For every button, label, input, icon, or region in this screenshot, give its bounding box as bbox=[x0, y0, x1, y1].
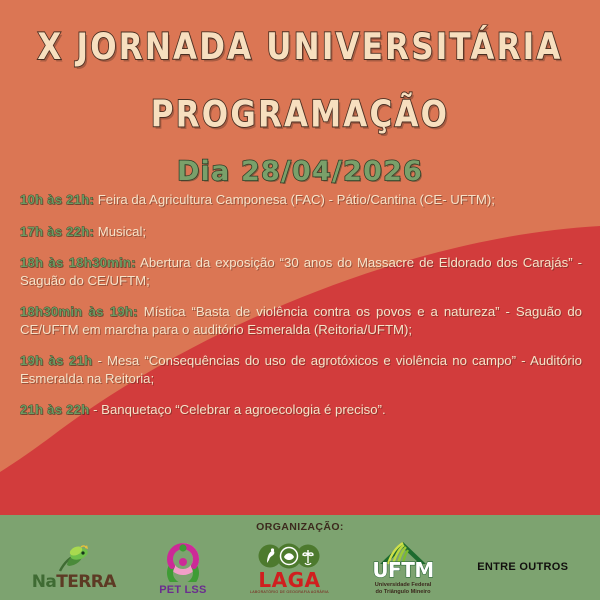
poster-footer: ORGANIZAÇÃO: NaTERRA bbox=[0, 515, 600, 600]
logo-pet-lss: PET LSS bbox=[159, 540, 206, 596]
logo-laga: LAGA LABORATÓRIO DE GEOGRAFIA AGRÁRIA bbox=[250, 541, 329, 595]
uftm-sublabel-line2: do Triângulo Mineiro bbox=[375, 589, 432, 596]
naterra-suffix: TERRA bbox=[56, 572, 116, 592]
schedule-time: 18h às 18h30min: bbox=[20, 255, 136, 270]
uftm-sublabel-line1: Universidade Federal bbox=[375, 582, 432, 589]
poster-header: X JORNADA UNIVERSITÁRIA PROGRAMAÇÃO Dia … bbox=[0, 0, 600, 187]
trefoil-knot-icon bbox=[162, 540, 204, 582]
leaf-bird-icon bbox=[54, 545, 94, 573]
laga-label: LAGA bbox=[258, 570, 320, 590]
organization-label: ORGANIZAÇÃO: bbox=[0, 521, 600, 533]
schedule-time: 17h às 22h: bbox=[20, 224, 94, 239]
uftm-label: UFTM bbox=[372, 560, 433, 580]
page-subtitle: PROGRAMAÇÃO bbox=[0, 58, 600, 136]
schedule-time: 18h30min às 19h: bbox=[20, 304, 138, 319]
schedule-description: Musical; bbox=[94, 224, 146, 239]
schedule-description: Feira da Agricultura Camponesa (FAC) - P… bbox=[94, 192, 495, 207]
pet-lss-label: PET LSS bbox=[159, 585, 206, 596]
schedule-time: 19h às 21h bbox=[20, 353, 92, 368]
schedule-description: - Banquetaço “Celebrar a agroecologia é … bbox=[89, 402, 385, 417]
schedule-time: 10h às 21h: bbox=[20, 192, 94, 207]
schedule-time: 21h às 22h bbox=[20, 402, 89, 417]
logo-uftm: UFTM Universidade Federal do Triângulo M… bbox=[372, 540, 433, 596]
logo-naterra: NaTERRA bbox=[32, 545, 116, 591]
circle-emblem-icon bbox=[258, 541, 320, 571]
list-item: 19h às 21h - Mesa “Consequências do uso … bbox=[20, 352, 582, 387]
entre-outros-label: ENTRE OUTROS bbox=[477, 562, 568, 573]
list-item: 10h às 21h: Feira da Agricultura Campone… bbox=[20, 191, 582, 209]
entre-outros-block: ENTRE OUTROS bbox=[477, 562, 568, 573]
laga-sublabel: LABORATÓRIO DE GEOGRAFIA AGRÁRIA bbox=[250, 591, 329, 595]
schedule-list: 10h às 21h: Feira da Agricultura Campone… bbox=[20, 178, 582, 419]
event-poster: X JORNADA UNIVERSITÁRIA PROGRAMAÇÃO Dia … bbox=[0, 0, 600, 600]
list-item: 21h às 22h - Banquetaço “Celebrar a agro… bbox=[20, 401, 582, 419]
naterra-wordmark: NaTERRA bbox=[32, 574, 116, 591]
naterra-prefix: Na bbox=[32, 572, 57, 592]
list-item: 18h30min às 19h: Mística “Basta de violê… bbox=[20, 303, 582, 338]
list-item: 17h às 22h: Musical; bbox=[20, 223, 582, 241]
list-item: 18h às 18h30min: Abertura da exposição “… bbox=[20, 254, 582, 289]
logo-row: NaTERRA PET LSS bbox=[0, 535, 600, 600]
uftm-sublabel: Universidade Federal do Triângulo Mineir… bbox=[375, 582, 432, 596]
schedule-description: - Mesa “Consequências do uso de agrotóxi… bbox=[20, 353, 582, 386]
